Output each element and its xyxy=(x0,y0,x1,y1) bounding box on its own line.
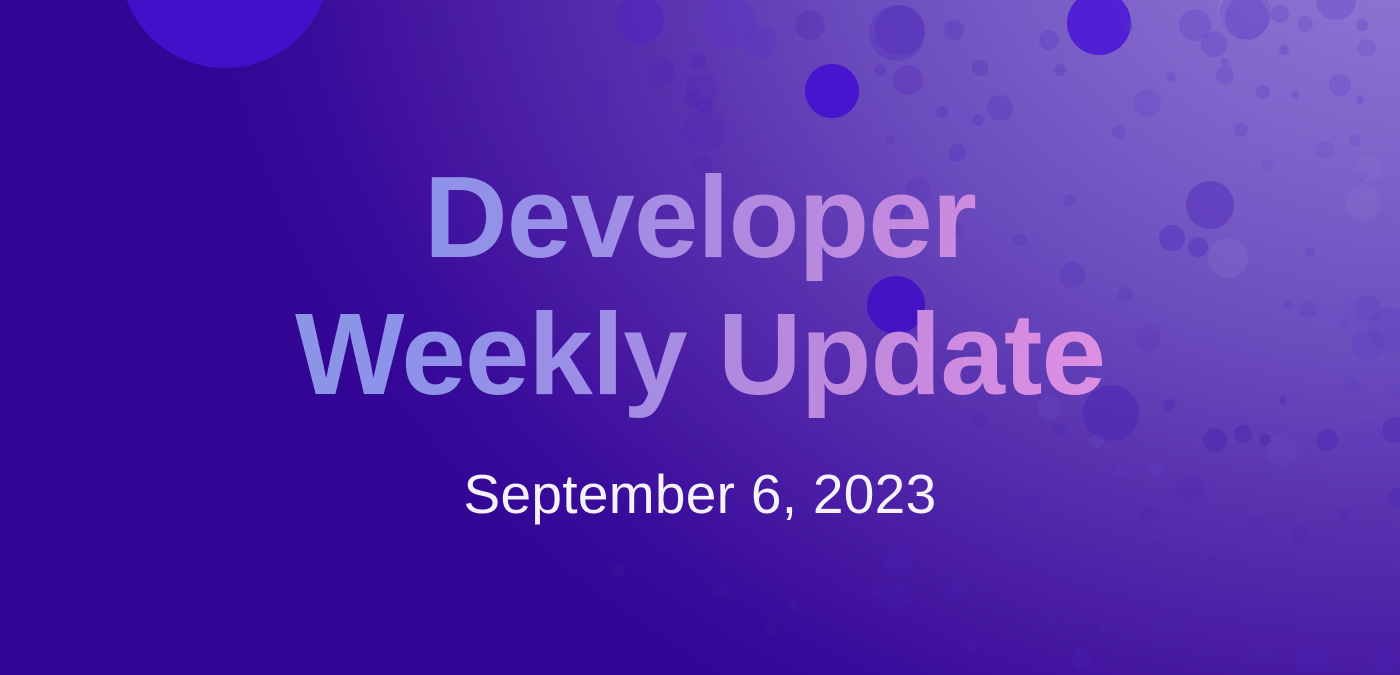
banner-content: Developer Weekly Update September 6, 202… xyxy=(0,0,1400,675)
issue-date: September 6, 2023 xyxy=(464,462,937,526)
page-title: Developer Weekly Update xyxy=(295,149,1105,422)
developer-weekly-update-banner: Developer Weekly Update September 6, 202… xyxy=(0,0,1400,675)
title-line-1: Developer xyxy=(295,149,1105,285)
title-line-2: Weekly Update xyxy=(295,286,1105,422)
